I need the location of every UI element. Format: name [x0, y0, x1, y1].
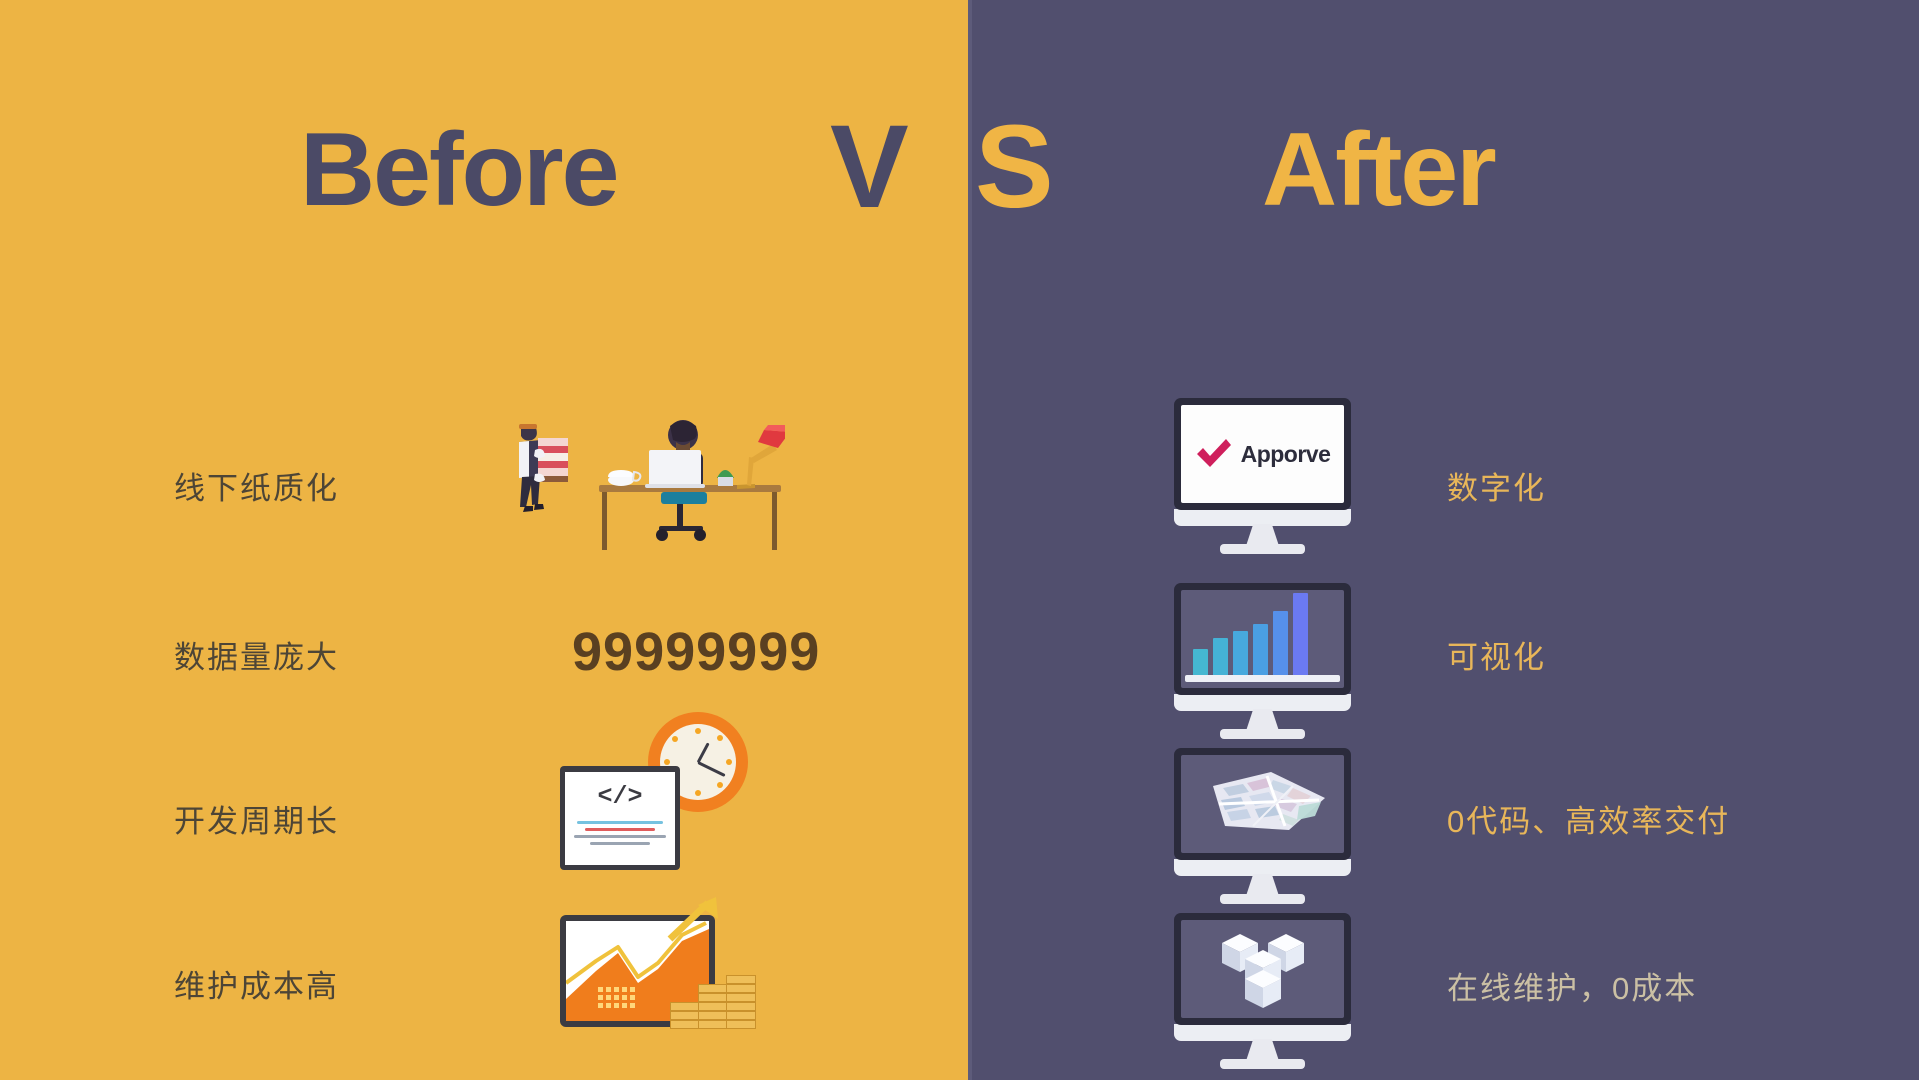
cubes-icon — [1181, 920, 1344, 1018]
monitor-isometric-map — [1160, 748, 1365, 906]
code-symbol-icon: </> — [565, 784, 675, 809]
big-number-99999999: 99999999 — [572, 621, 820, 683]
monitor-isometric-cubes — [1160, 913, 1365, 1071]
trend-up-arrow-icon — [666, 895, 726, 945]
after-row-label-4: 在线维护，0成本 — [1447, 963, 1697, 1008]
before-row-label-3: 开发周期长 — [174, 796, 339, 841]
vs-letter-v: V — [830, 108, 909, 226]
vs-letter-s: S — [975, 108, 1054, 226]
bar-chart — [1193, 593, 1308, 676]
after-row-label-2: 可视化 — [1447, 632, 1546, 677]
after-row-label-3: 0代码、高效率交付 — [1447, 796, 1730, 841]
before-row-label-4: 维护成本高 — [174, 961, 339, 1006]
code-window-clock-illustration: </> — [560, 712, 755, 872]
page-title-before: Before — [300, 118, 617, 222]
check-icon — [1195, 438, 1233, 470]
approve-screen-text: Apporve — [1241, 441, 1331, 468]
coins-icon — [670, 967, 756, 1029]
after-row-label-1: 数字化 — [1447, 463, 1546, 508]
map-icon — [1181, 755, 1344, 853]
monitor-bar-chart — [1160, 583, 1365, 741]
monitor-approve: Apporve — [1160, 398, 1365, 556]
before-row-label-2: 数据量庞大 — [174, 632, 339, 677]
before-row-label-1: 线下纸质化 — [174, 463, 339, 508]
office-paperwork-illustration — [495, 398, 785, 558]
growth-chart-coins-illustration — [560, 895, 760, 1075]
comparison-slide: Before V S After 线下纸质化 数据量庞大 开发周期长 维护成本高 — [0, 0, 1919, 1080]
page-title-after: After — [1262, 118, 1495, 222]
code-window: </> — [560, 766, 680, 870]
panel-divider — [968, 0, 972, 1080]
